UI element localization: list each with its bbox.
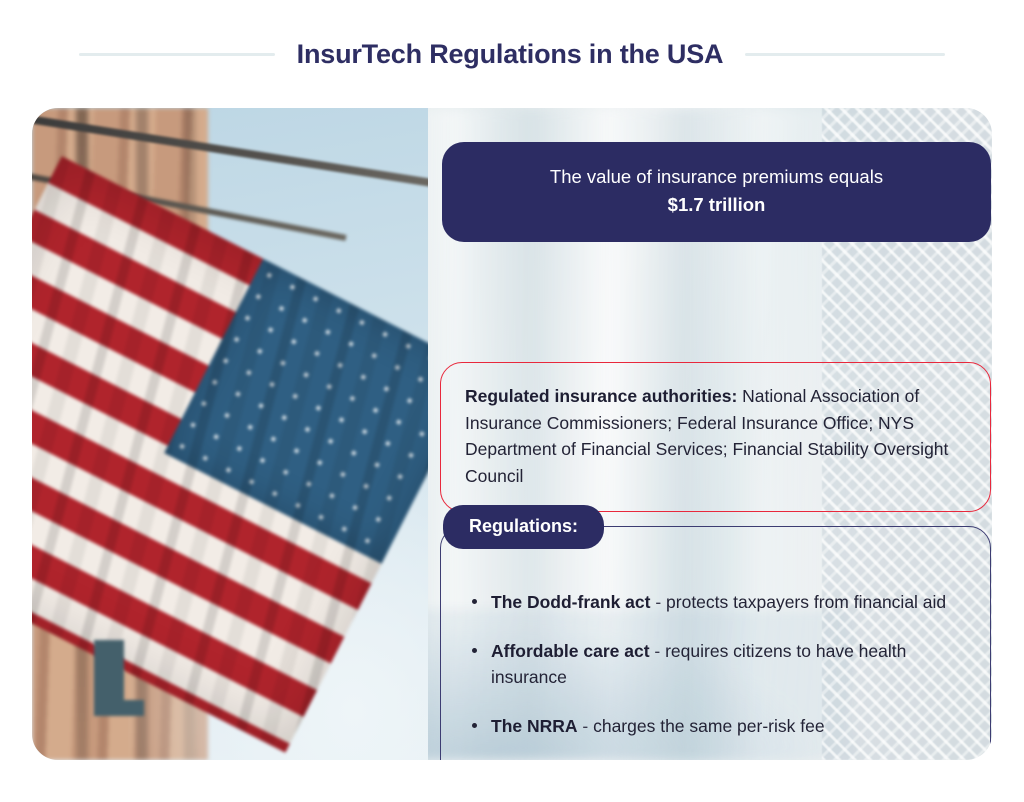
- regulation-term: The NRRA: [491, 716, 578, 736]
- bullet-dot-icon: [472, 723, 477, 728]
- premium-value-card: The value of insurance premiums equals $…: [442, 142, 991, 242]
- list-item: Affordable care act - requires citizens …: [469, 638, 966, 691]
- list-item: The NRRA - charges the same per-risk fee: [469, 713, 966, 740]
- regulation-separator: -: [650, 641, 666, 661]
- bullet-dot-icon: [472, 599, 477, 604]
- photo-wall-bracket: [94, 640, 124, 716]
- regulations-list: The Dodd-frank act - protects taxpayers …: [441, 589, 992, 760]
- regulation-separator: -: [578, 716, 594, 736]
- page-header: InsurTech Regulations in the USA: [0, 0, 1024, 108]
- regulation-description: charges the same per-risk fee: [593, 716, 825, 736]
- regulation-separator: -: [650, 592, 666, 612]
- premium-amount: $1.7 trillion: [468, 192, 965, 218]
- regulations-card: Regulations: The Dodd-frank act - protec…: [440, 526, 991, 760]
- infographic-panel: The value of insurance premiums equals $…: [32, 108, 992, 760]
- list-item: The Dodd-frank act - protects taxpayers …: [469, 589, 966, 616]
- authorities-text: Regulated insurance authorities: Nationa…: [465, 383, 966, 489]
- regulation-term: The Dodd-frank act: [491, 592, 650, 612]
- flag-photo: [32, 108, 428, 760]
- premium-caption: The value of insurance premiums equals: [468, 164, 965, 190]
- authorities-label: Regulated insurance authorities:: [465, 386, 737, 406]
- regulation-term: Affordable care act: [491, 641, 650, 661]
- regulations-heading-badge: Regulations:: [443, 505, 604, 549]
- page-title: InsurTech Regulations in the USA: [297, 39, 724, 70]
- regulated-authorities-card: Regulated insurance authorities: Nationa…: [440, 362, 991, 512]
- bullet-dot-icon: [472, 648, 477, 653]
- divider-line-right-icon: [745, 53, 945, 56]
- divider-line-left-icon: [79, 53, 275, 56]
- regulation-description: protects taxpayers from financial aid: [666, 592, 946, 612]
